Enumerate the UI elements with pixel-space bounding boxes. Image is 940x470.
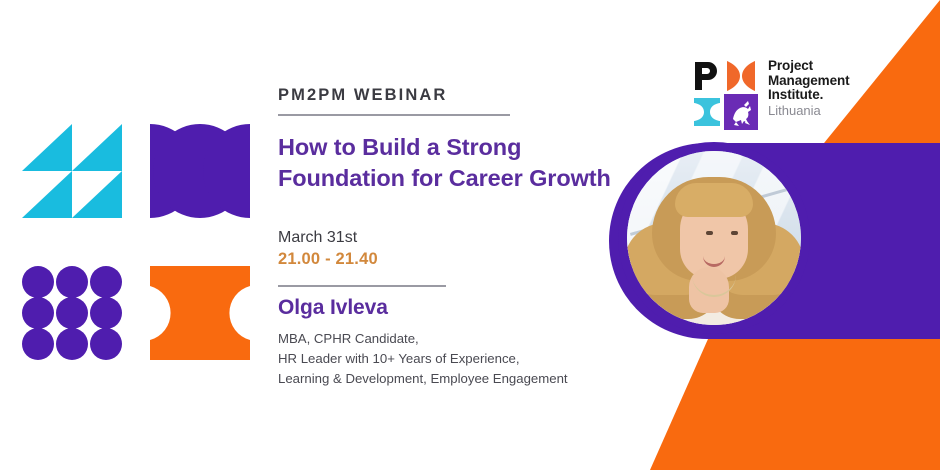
credential-line: HR Leader with 10+ Years of Experience, (278, 349, 648, 369)
webinar-poster: Project Management Institute. Lithuania (0, 0, 940, 470)
logo-vytis-emblem-icon (724, 94, 758, 130)
pmi-lithuania-logo: Project Management Institute. Lithuania (690, 58, 850, 130)
pmi-logo-wordmark: Project Management Institute. Lithuania (768, 58, 850, 118)
pmi-logo-mark (690, 58, 758, 130)
purple-dot-grid-tile (22, 266, 122, 360)
portrait-hair-fringe (675, 183, 753, 217)
speaker-credentials: MBA, CPHR Candidate, HR Leader with 10+ … (278, 329, 648, 389)
logo-letter-m-icon (724, 58, 758, 94)
speaker-name: Olga Ivleva (278, 296, 648, 320)
cyan-triangles-tile (22, 124, 122, 218)
portrait-eye-right (731, 231, 738, 235)
event-time: 21.00 - 21.40 (278, 250, 648, 269)
eyebrow-divider (278, 114, 510, 116)
logo-word-management: Management (768, 74, 850, 89)
credential-line: MBA, CPHR Candidate, (278, 329, 648, 349)
decorative-tile-group (22, 124, 250, 360)
orange-hourglass-tile (150, 266, 250, 360)
logo-letter-i-icon (690, 94, 724, 130)
orange-wedge-bottom-right (650, 339, 940, 470)
portrait-eye-left (706, 231, 713, 235)
logo-word-institute: Institute. (768, 88, 850, 103)
purple-bowtie-tile (150, 124, 250, 218)
speaker-divider (278, 285, 446, 287)
event-date: March 31st (278, 228, 648, 248)
poster-text-column: PM2PM WEBINAR How to Build a Strong Foun… (278, 86, 648, 389)
page-title: How to Build a Strong Foundation for Car… (278, 132, 648, 195)
logo-word-chapter: Lithuania (768, 104, 850, 118)
logo-word-project: Project (768, 59, 850, 74)
credential-line: Learning & Development, Employee Engagem… (278, 369, 648, 389)
speaker-portrait-photo (627, 151, 801, 325)
eyebrow-label: PM2PM WEBINAR (278, 86, 648, 105)
logo-letter-p-icon (690, 58, 724, 94)
